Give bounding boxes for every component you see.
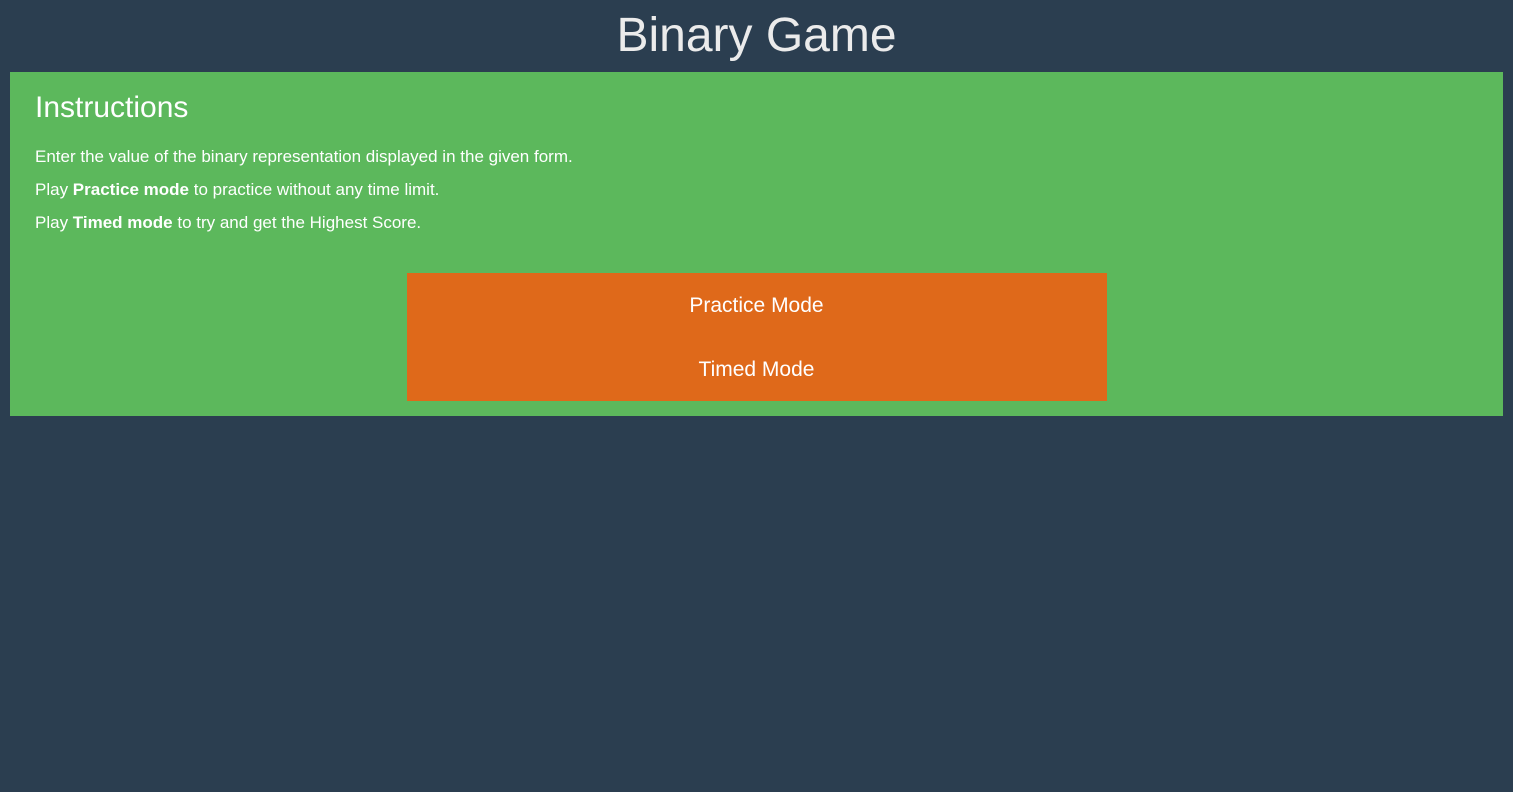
- instructions-text: to practice without any time limit.: [189, 180, 439, 199]
- instructions-line-1: Enter the value of the binary representa…: [35, 140, 1478, 173]
- timed-mode-button[interactable]: Timed Mode: [407, 337, 1107, 401]
- practice-mode-button[interactable]: Practice Mode: [407, 273, 1107, 337]
- instructions-emphasis: Timed mode: [73, 213, 173, 232]
- instructions-text: Enter the value of the binary representa…: [35, 147, 573, 166]
- instructions-line-3: Play Timed mode to try and get the Highe…: [35, 206, 1478, 239]
- page-content-area: [0, 416, 1513, 792]
- mode-button-group: Practice Mode Timed Mode: [407, 273, 1107, 401]
- instructions-text-block: Enter the value of the binary representa…: [35, 140, 1478, 239]
- instructions-panel: Instructions Enter the value of the bina…: [10, 72, 1503, 416]
- instructions-heading: Instructions: [35, 90, 1478, 126]
- app-header: Binary Game: [0, 0, 1513, 72]
- instructions-text: Play: [35, 180, 73, 199]
- instructions-line-2: Play Practice mode to practice without a…: [35, 173, 1478, 206]
- instructions-text: Play: [35, 213, 73, 232]
- page-title: Binary Game: [616, 12, 896, 60]
- instructions-text: to try and get the Highest Score.: [173, 213, 422, 232]
- instructions-emphasis: Practice mode: [73, 180, 189, 199]
